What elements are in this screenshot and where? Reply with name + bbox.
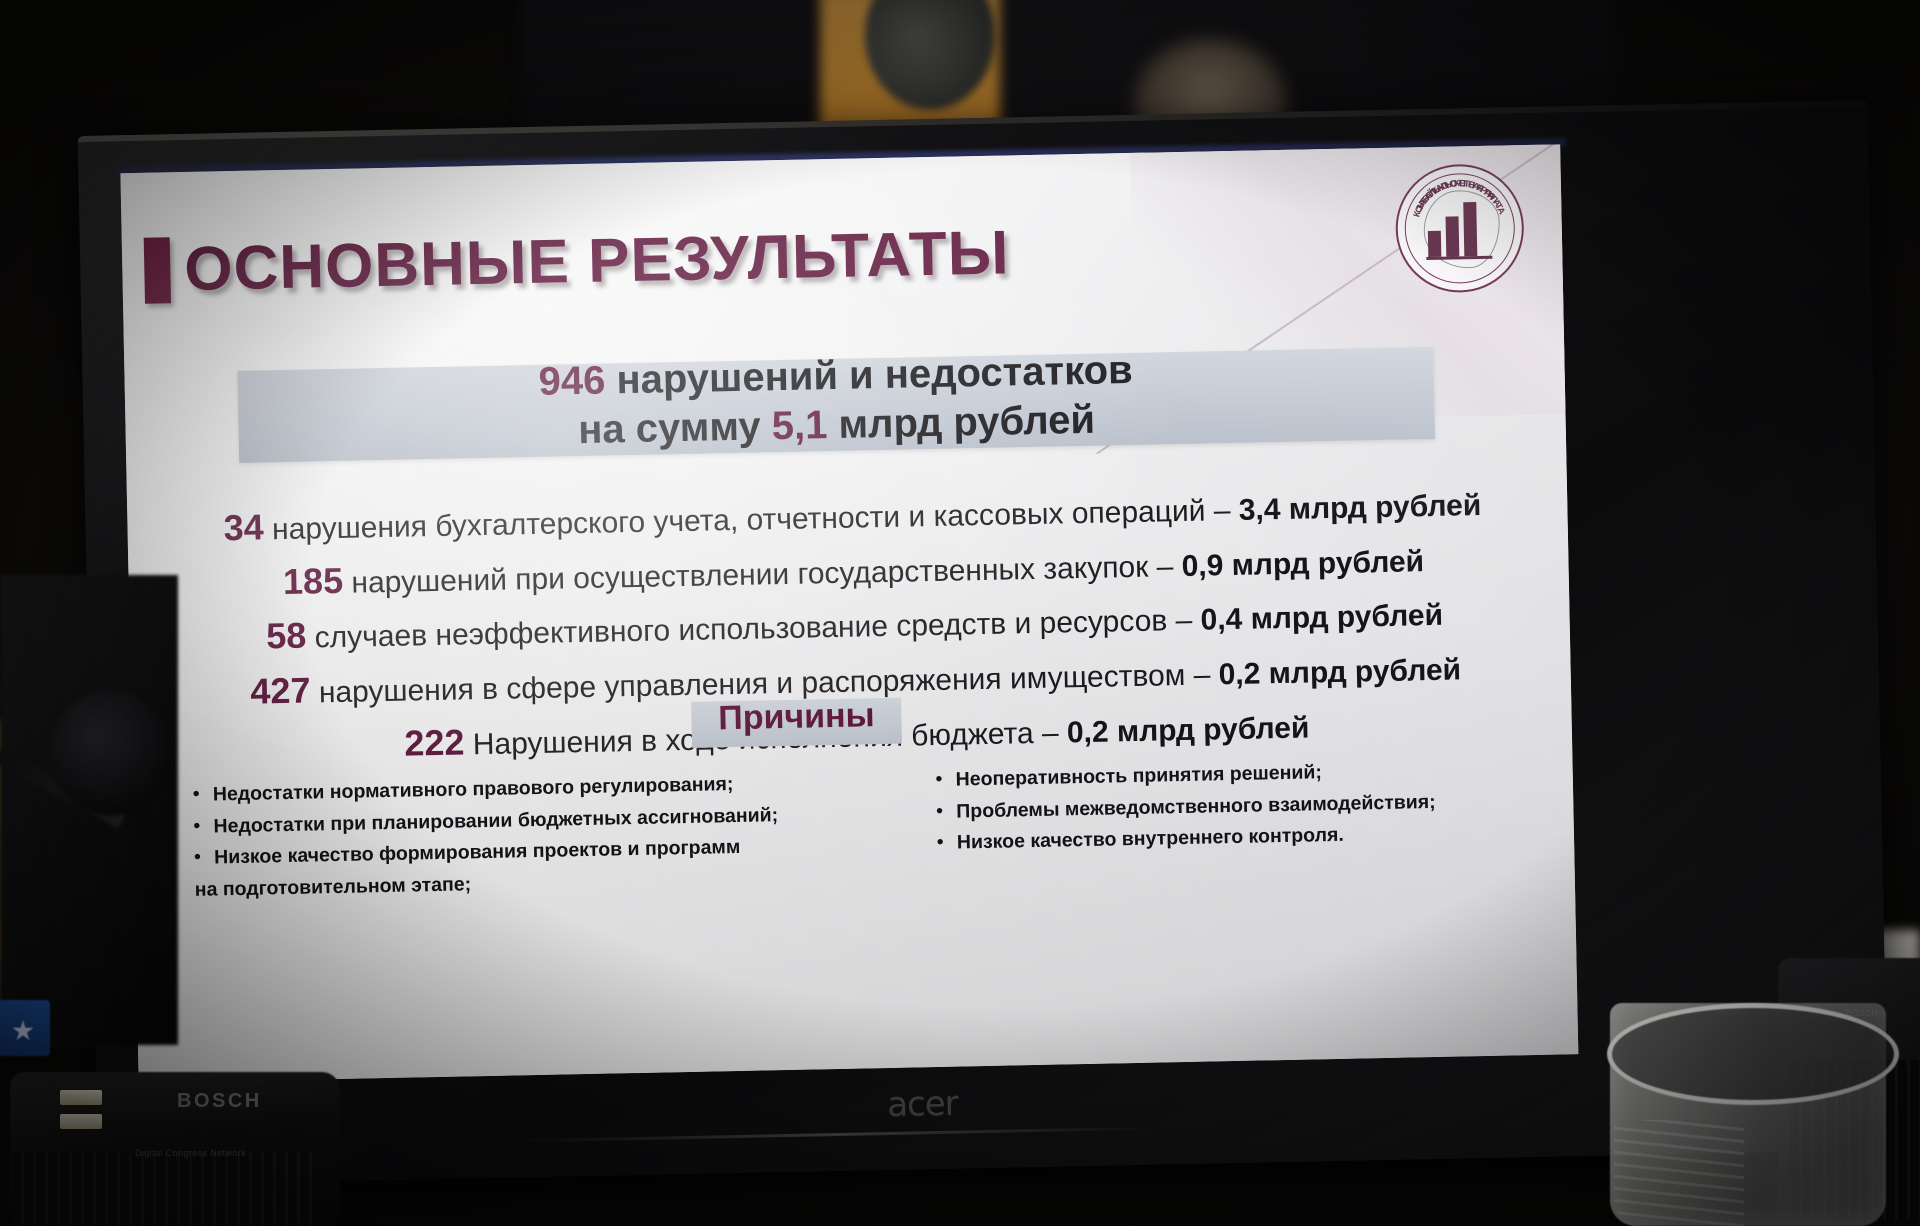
bar-chart-baseline <box>1426 256 1492 260</box>
stat-count: 427 <box>250 670 311 712</box>
presentation-slide: ОСНОВНЫЕ РЕЗУЛЬТАТЫ КОНТРОЛЬНО-СЧЕТНАЯ П… <box>120 144 1578 1083</box>
bullet-icon: • <box>937 828 958 859</box>
list-item-text: Низкое качество внутреннего контроля. <box>957 820 1344 859</box>
reasons-left-column: • Недостатки нормативного правового регу… <box>193 766 880 906</box>
headline-sum-value: 5,1 <box>771 403 827 448</box>
stat-amount: 0,2 млрд рублей <box>1067 711 1310 749</box>
stat-amount: 0,4 млрд рублей <box>1200 599 1443 637</box>
stat-count: 185 <box>283 560 344 602</box>
stat-count: 58 <box>266 615 307 657</box>
bullet-icon: • <box>935 765 956 796</box>
conference-room-photo: ОСНОВНЫЕ РЕЗУЛЬТАТЫ КОНТРОЛЬНО-СЧЕТНАЯ П… <box>0 0 1920 1226</box>
bullet-icon: • <box>194 843 215 874</box>
bosch-key-2[interactable] <box>60 1114 102 1129</box>
stat-count: 222 <box>404 721 465 763</box>
stat-amount: 0,9 млрд рублей <box>1181 545 1424 583</box>
blue-sticker <box>0 1000 50 1056</box>
headline-label: нарушений и недостатков <box>605 348 1133 403</box>
slide-title: ОСНОВНЫЕ РЕЗУЛЬТАТЫ <box>184 217 1011 305</box>
bosch-brand-label: BOSCH <box>177 1090 262 1113</box>
headline-sum-prefix: на сумму <box>578 404 772 452</box>
organization-logo: КОНТРОЛЬНО-СЧЕТНАЯ ПАЛАТА ЗАБАЙКАЛЬСКОГО… <box>1395 163 1526 294</box>
stat-count: 34 <box>223 506 264 548</box>
bullet-icon: • <box>936 796 957 827</box>
bullet-icon: • <box>193 779 214 810</box>
bullet-icon: • <box>193 811 214 842</box>
bosch-speaker-grille <box>12 1152 312 1226</box>
plastic-cup-rim <box>1607 1003 1899 1105</box>
bosch-sub-label: Digital Congress Network <box>135 1148 246 1158</box>
bosch-key-1[interactable] <box>60 1090 102 1105</box>
reasons-heading: Причины <box>691 696 902 739</box>
microphone-head <box>50 690 170 816</box>
bar-chart-icon <box>1427 202 1477 257</box>
title-accent-bar <box>144 237 171 304</box>
stat-amount: 0,2 млрд рублей <box>1218 654 1461 692</box>
stat-amount: 3,4 млрд рублей <box>1238 489 1481 527</box>
stat-text: нарушений при осуществлении государствен… <box>343 550 1182 600</box>
headline-sum-unit: млрд рублей <box>827 398 1095 447</box>
region-map-icon <box>1423 190 1501 270</box>
slide-title-block: ОСНОВНЫЕ РЕЗУЛЬТАТЫ <box>144 217 1011 305</box>
plastic-cup-ribs <box>1614 1120 1744 1226</box>
acer-brand-logo: acer <box>887 1084 958 1125</box>
reasons-right-column: • Неоперативность принятия решений; • Пр… <box>877 753 1524 892</box>
logo-bottom-text: ЗАБАЙКАЛЬСКОГО КРАЯ <box>1397 165 1523 291</box>
headline-count: 946 <box>538 359 606 404</box>
stat-text: случаев неэффективного использование сре… <box>306 604 1201 655</box>
monitor-screen: ОСНОВНЫЕ РЕЗУЛЬТАТЫ КОНТРОЛЬНО-СЧЕТНАЯ П… <box>120 144 1578 1083</box>
reasons-columns: • Недостатки нормативного правового регу… <box>193 753 1525 906</box>
